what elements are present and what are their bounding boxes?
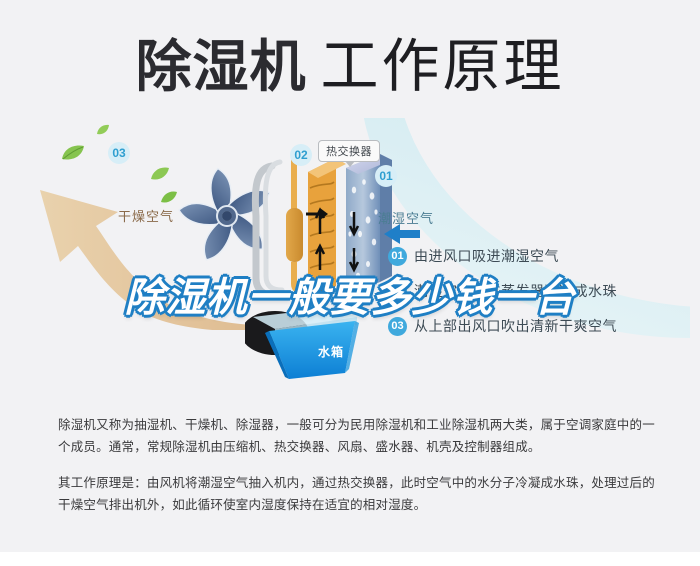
leaf-icon [96, 124, 110, 136]
badge-03: 03 [108, 142, 130, 164]
working-principle-diagram: 水箱 03 02 01 热交换器 干燥空气 潮湿空气 01 由进风口吸进潮湿空气… [0, 118, 700, 403]
step-text: 由进风口吸进潮湿空气 [414, 246, 559, 266]
infographic-page: 除湿机 工作原理 [0, 0, 700, 566]
title-light-part: 工作原理 [320, 38, 564, 96]
step-number: 01 [388, 247, 407, 266]
title-strong-part: 除湿机 [135, 39, 306, 95]
bottom-strip [0, 552, 700, 566]
list-item: 01 由进风口吸进潮湿空气 [388, 246, 688, 266]
paragraph-1: 除湿机又称为抽湿机、干燥机、除湿器，一般可分为民用除湿机和工业除湿机两大类，属于… [58, 414, 658, 458]
dry-air-label: 干燥空气 [118, 206, 174, 225]
badge-02: 02 [290, 144, 312, 166]
leaf-icon [60, 144, 86, 162]
leaf-icon [150, 166, 170, 181]
humid-air-label: 潮湿空气 [378, 208, 434, 227]
badge-01: 01 [375, 165, 397, 187]
paragraph-2: 其工作原理是：由风机将潮湿空气抽入机内，通过热交换器，此时空气中的水分子冷凝成水… [58, 472, 658, 516]
heat-exchanger-callout: 热交换器 [318, 140, 380, 162]
water-tank-label: 水箱 [318, 343, 344, 360]
overlay-headline: 除湿机一般要多少钱一台 [0, 265, 700, 323]
article-body: 除湿机又称为抽湿机、干燥机、除湿器，一般可分为民用除湿机和工业除湿机两大类，属于… [58, 414, 658, 516]
page-title: 除湿机 工作原理 [0, 22, 700, 112]
